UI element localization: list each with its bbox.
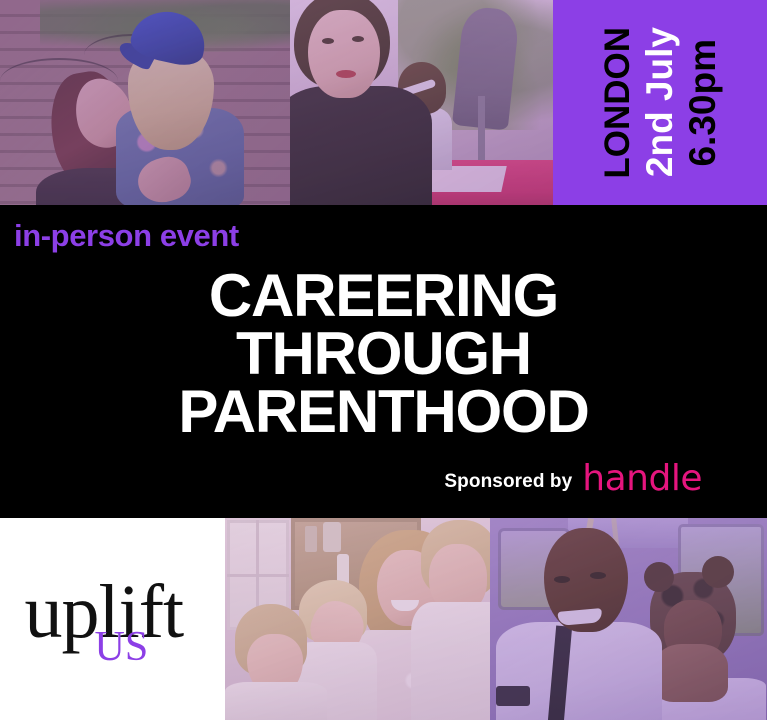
photo-mother-and-child: [0, 0, 290, 205]
brand-logo-panel: uplift US: [0, 518, 225, 720]
sponsor-credit: Sponsored by handle: [444, 464, 702, 500]
sponsor-label: Sponsored by: [444, 471, 572, 493]
event-poster: LONDON 2nd July 6.30pm in-person event C…: [0, 0, 767, 720]
event-time: 6.30pm: [684, 39, 721, 167]
uplift-us-logo: uplift US: [25, 574, 201, 670]
top-photo-strip: LONDON 2nd July 6.30pm: [0, 0, 767, 205]
purple-wash-overlay: [490, 518, 767, 720]
logo-subword: US: [95, 626, 149, 668]
headline-line-2: THROUGH: [0, 325, 767, 383]
event-city: LONDON: [600, 27, 635, 179]
event-type-kicker: in-person event: [14, 218, 239, 254]
photo-mother-with-three-children: [225, 518, 490, 720]
purple-wash-overlay: [290, 0, 553, 205]
purple-wash-overlay: [0, 0, 290, 205]
headline-line-3: PARENTHOOD: [0, 383, 767, 441]
event-date: 2nd July: [641, 27, 678, 177]
event-details-panel: LONDON 2nd July 6.30pm: [553, 0, 767, 205]
title-band: in-person event CAREERING THROUGH PARENT…: [0, 205, 767, 518]
sponsor-brand-logo: handle: [582, 461, 702, 497]
bottom-photo-strip: uplift US: [0, 518, 767, 720]
photo-father-and-child-on-bus: [490, 518, 767, 720]
photo-woman-and-child-at-table: [290, 0, 553, 205]
purple-wash-overlay: [225, 518, 490, 720]
headline-line-1: CAREERING: [0, 267, 767, 325]
page-title: CAREERING THROUGH PARENTHOOD: [0, 267, 767, 442]
